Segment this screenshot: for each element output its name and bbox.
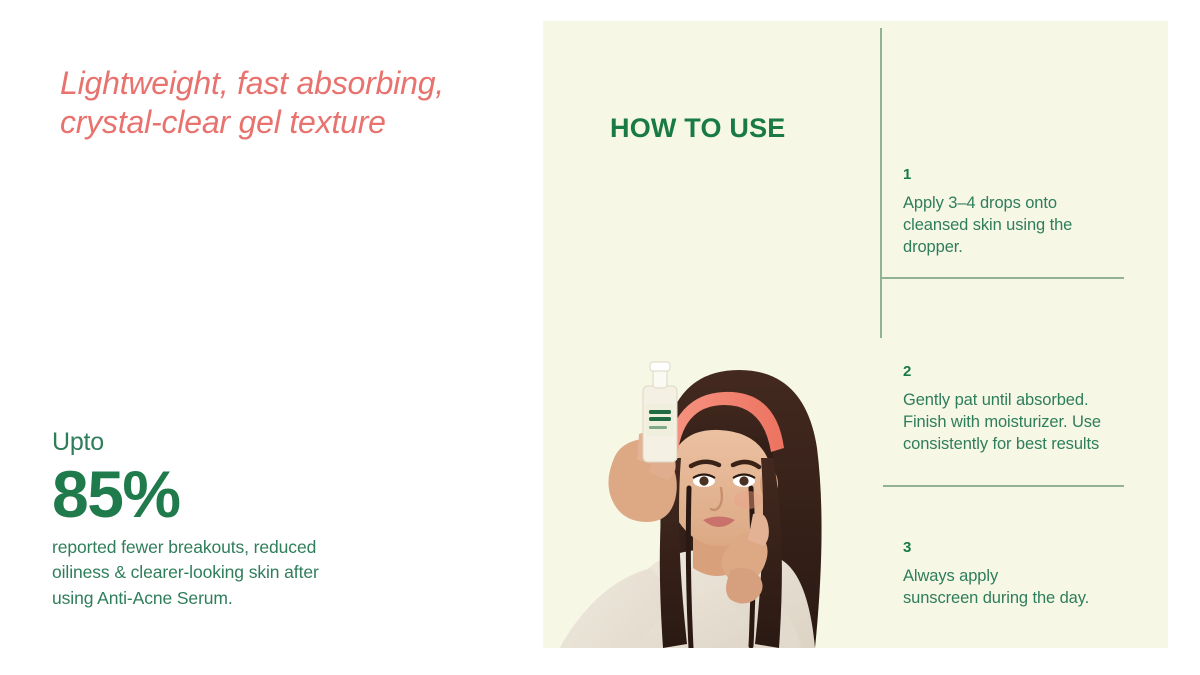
panel-title: HOW TO USE xyxy=(610,113,786,144)
step-divider-1 xyxy=(880,277,1124,279)
stat-label: Upto xyxy=(52,428,522,457)
step-1-line-2: cleansed skin using the xyxy=(903,215,1153,237)
step-text-1: Apply 3–4 drops onto cleansed skin using… xyxy=(903,193,1153,258)
headline-line-2: crystal-clear gel texture xyxy=(60,103,510,142)
model-photo-illustration xyxy=(543,338,883,648)
stat-description-line-2: oiliness & clearer-looking skin after xyxy=(52,560,382,585)
step-2-line-3: consistently for best results xyxy=(903,434,1153,456)
step-3-line-1: Always apply xyxy=(903,566,1153,588)
step-1-line-3: dropper. xyxy=(903,237,1153,259)
statistic-block: Upto 85% reported fewer breakouts, reduc… xyxy=(52,428,522,611)
stat-description: reported fewer breakouts, reduced oiline… xyxy=(52,535,382,611)
left-content-column: Lightweight, fast absorbing, crystal-cle… xyxy=(0,0,543,675)
step-text-2: Gently pat until absorbed. Finish with m… xyxy=(903,390,1153,455)
step-item-3: 3 Always apply sunscreen during the day. xyxy=(903,540,1153,610)
how-to-use-panel: HOW TO USE 1 Apply 3–4 drops onto cleans… xyxy=(543,21,1168,648)
headline-line-1: Lightweight, fast absorbing, xyxy=(60,64,510,103)
step-2-line-1: Gently pat until absorbed. xyxy=(903,390,1153,412)
step-2-line-2: Finish with moisturizer. Use xyxy=(903,412,1153,434)
step-divider-2 xyxy=(880,485,1124,487)
step-number-2: 2 xyxy=(903,364,1153,379)
model-photo xyxy=(543,338,883,648)
stat-description-line-1: reported fewer breakouts, reduced xyxy=(52,535,382,560)
step-text-3: Always apply sunscreen during the day. xyxy=(903,566,1153,610)
step-item-1: 1 Apply 3–4 drops onto cleansed skin usi… xyxy=(903,167,1153,258)
stat-value: 85% xyxy=(52,461,522,527)
step-number-1: 1 xyxy=(903,167,1153,182)
step-1-line-1: Apply 3–4 drops onto xyxy=(903,193,1153,215)
step-item-2: 2 Gently pat until absorbed. Finish with… xyxy=(903,364,1153,455)
step-3-line-2: sunscreen during the day. xyxy=(903,588,1153,610)
step-number-3: 3 xyxy=(903,540,1153,555)
headline: Lightweight, fast absorbing, crystal-cle… xyxy=(60,64,510,142)
stat-description-line-3: using Anti-Acne Serum. xyxy=(52,586,382,611)
